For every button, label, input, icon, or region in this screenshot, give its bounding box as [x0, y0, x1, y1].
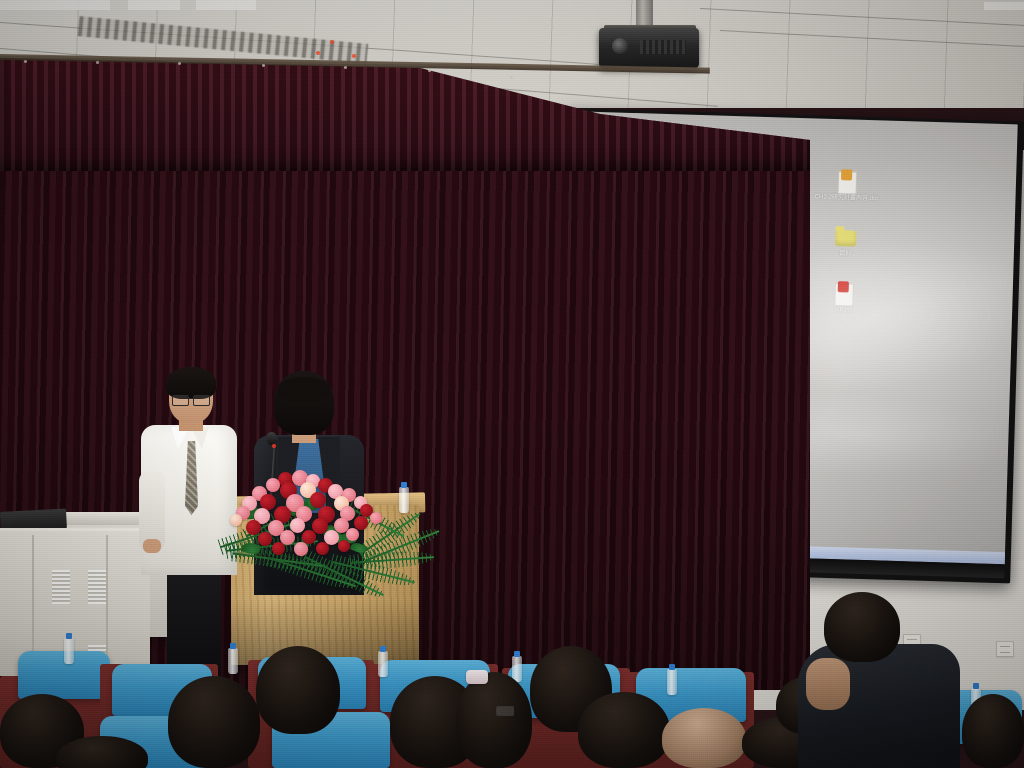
curtain-hook [262, 64, 265, 67]
podium-microphone [267, 432, 276, 445]
equipment-cabinet [0, 528, 150, 676]
flower-bloom [338, 540, 350, 552]
audience-head [56, 736, 148, 768]
projector-vent [640, 40, 686, 54]
flower-bloom [246, 520, 261, 535]
flower-bloom [370, 512, 382, 524]
word-document-icon[interactable]: CH2-2研究計畫內容.doc [810, 170, 885, 228]
ceiling-indicator-light [330, 40, 334, 44]
curtain-hook [344, 66, 347, 69]
audience-seat[interactable] [272, 712, 390, 768]
pdf-file-icon[interactable]: pdf.pdf [806, 282, 881, 340]
desktop-icon-empty [801, 450, 876, 508]
flower-bloom [258, 532, 272, 546]
flower-bloom [316, 542, 329, 555]
desktop-icon-label: 資料 [809, 250, 881, 259]
cabinet-vent-louver [52, 570, 70, 604]
cabinet-divider [106, 535, 108, 670]
wall-outlet [903, 634, 921, 650]
pdf-file-icon [833, 283, 856, 306]
flower-bloom [266, 478, 280, 492]
folder-icon [834, 227, 857, 250]
man-lower-body [167, 569, 221, 689]
ceiling-projector [599, 28, 699, 68]
audience-head [0, 694, 84, 768]
desktop-icon-label: CH2-2研究計畫內容.doc [811, 194, 883, 203]
curtain-hook [428, 69, 431, 72]
audience-head-bald [662, 708, 746, 768]
curtain-hook [510, 76, 513, 79]
flower-bloom [230, 514, 242, 526]
wall-outlet [996, 641, 1014, 657]
audience-head [742, 716, 836, 768]
microphone-indicator [272, 444, 276, 448]
ceiling-light-panel [984, 2, 1024, 10]
cabinet-vent-louver [88, 645, 106, 667]
woman-hair-fringe [278, 377, 330, 401]
flower-bloom [354, 516, 368, 530]
folder-icon[interactable]: 資料 [808, 226, 883, 284]
man-hand [143, 539, 161, 553]
word-document-icon [836, 171, 859, 194]
ceiling-light-panel [196, 0, 256, 10]
cabinet-divider [32, 535, 34, 670]
ceiling-light-panel [128, 0, 180, 10]
water-bottle [399, 487, 409, 513]
eyeglasses-icon [172, 395, 210, 404]
cabinet-vent-louver [88, 570, 106, 604]
curtain-hook [96, 61, 99, 64]
projector-lens [612, 38, 628, 54]
desktop-icon-empty [805, 338, 880, 396]
desktop-icon-empty [803, 394, 878, 452]
flower-bloom [346, 528, 359, 541]
flower-bloom [294, 542, 308, 556]
audience-seat[interactable] [100, 716, 218, 768]
curtain-hook [178, 62, 181, 65]
ceiling-indicator-light [316, 51, 320, 55]
podium-shadow [231, 600, 419, 665]
flower-bloom [272, 542, 285, 555]
curtain-hook [24, 60, 27, 63]
ceiling-indicator-light [352, 54, 356, 58]
eyeglasses-bridge [187, 398, 194, 399]
lecture-hall-photo: 我的電腦匠藥醫師導生輔導-47031...7.100012.彭何查小組中實...… [0, 0, 1024, 768]
ceiling-light-panel [0, 0, 110, 10]
desktop-icon-label: pdf.pdf [808, 306, 880, 315]
floral-arrangement [222, 468, 400, 588]
